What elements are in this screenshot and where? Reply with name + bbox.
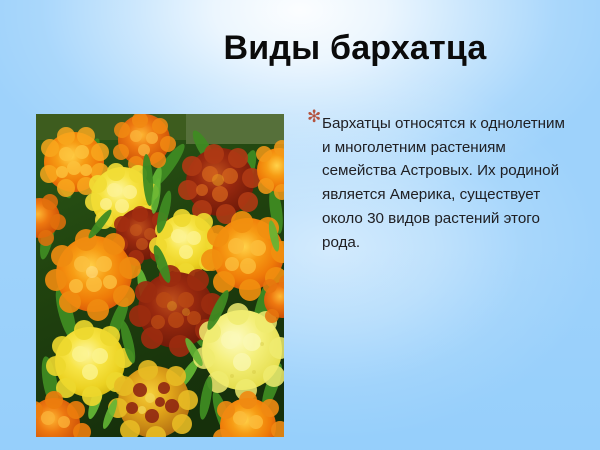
body-paragraph: Бархатцы относятся к однолетним и многол…	[322, 112, 592, 254]
asterisk-bullet-icon: ✻	[307, 109, 321, 126]
marigold-photo-illustration	[36, 114, 284, 437]
body-text-block: ✻ Бархатцы относятся к однолетним и мног…	[307, 112, 592, 254]
slide-canvas: Виды бархатца	[0, 0, 600, 450]
marigold-photo	[36, 114, 284, 437]
bullet-paragraph: ✻ Бархатцы относятся к однолетним и мног…	[307, 112, 592, 254]
slide-title: Виды бархатца	[150, 29, 560, 68]
